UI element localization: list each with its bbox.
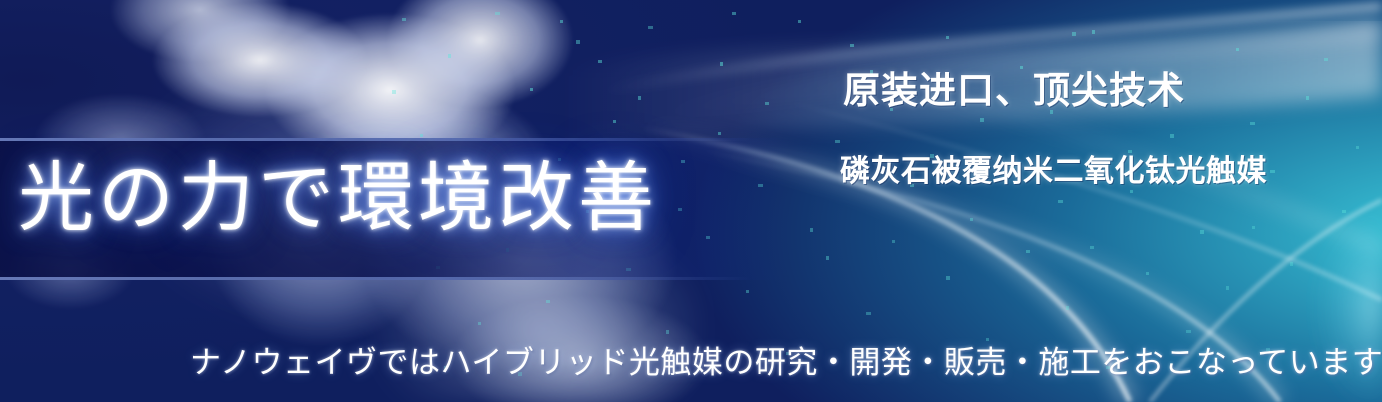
headline-band-top-edge: [0, 138, 790, 141]
hero-banner: 光の力で環境改善 原装进口、顶尖技术 磷灰石被覆纳米二氧化钛光触媒 ナノウェイヴ…: [0, 0, 1382, 402]
chinese-subheadline: 磷灰石被覆纳米二氧化钛光触媒: [840, 157, 1267, 187]
chinese-headline: 原装进口、顶尖技术: [843, 72, 1185, 109]
headline-band-bottom-edge: [0, 277, 790, 280]
main-headline-japanese: 光の力で環境改善: [18, 160, 658, 236]
japanese-tagline: ナノウェイヴではハイブリッド光触媒の研究・開発・販売・施工をおこなっています: [190, 348, 1382, 379]
